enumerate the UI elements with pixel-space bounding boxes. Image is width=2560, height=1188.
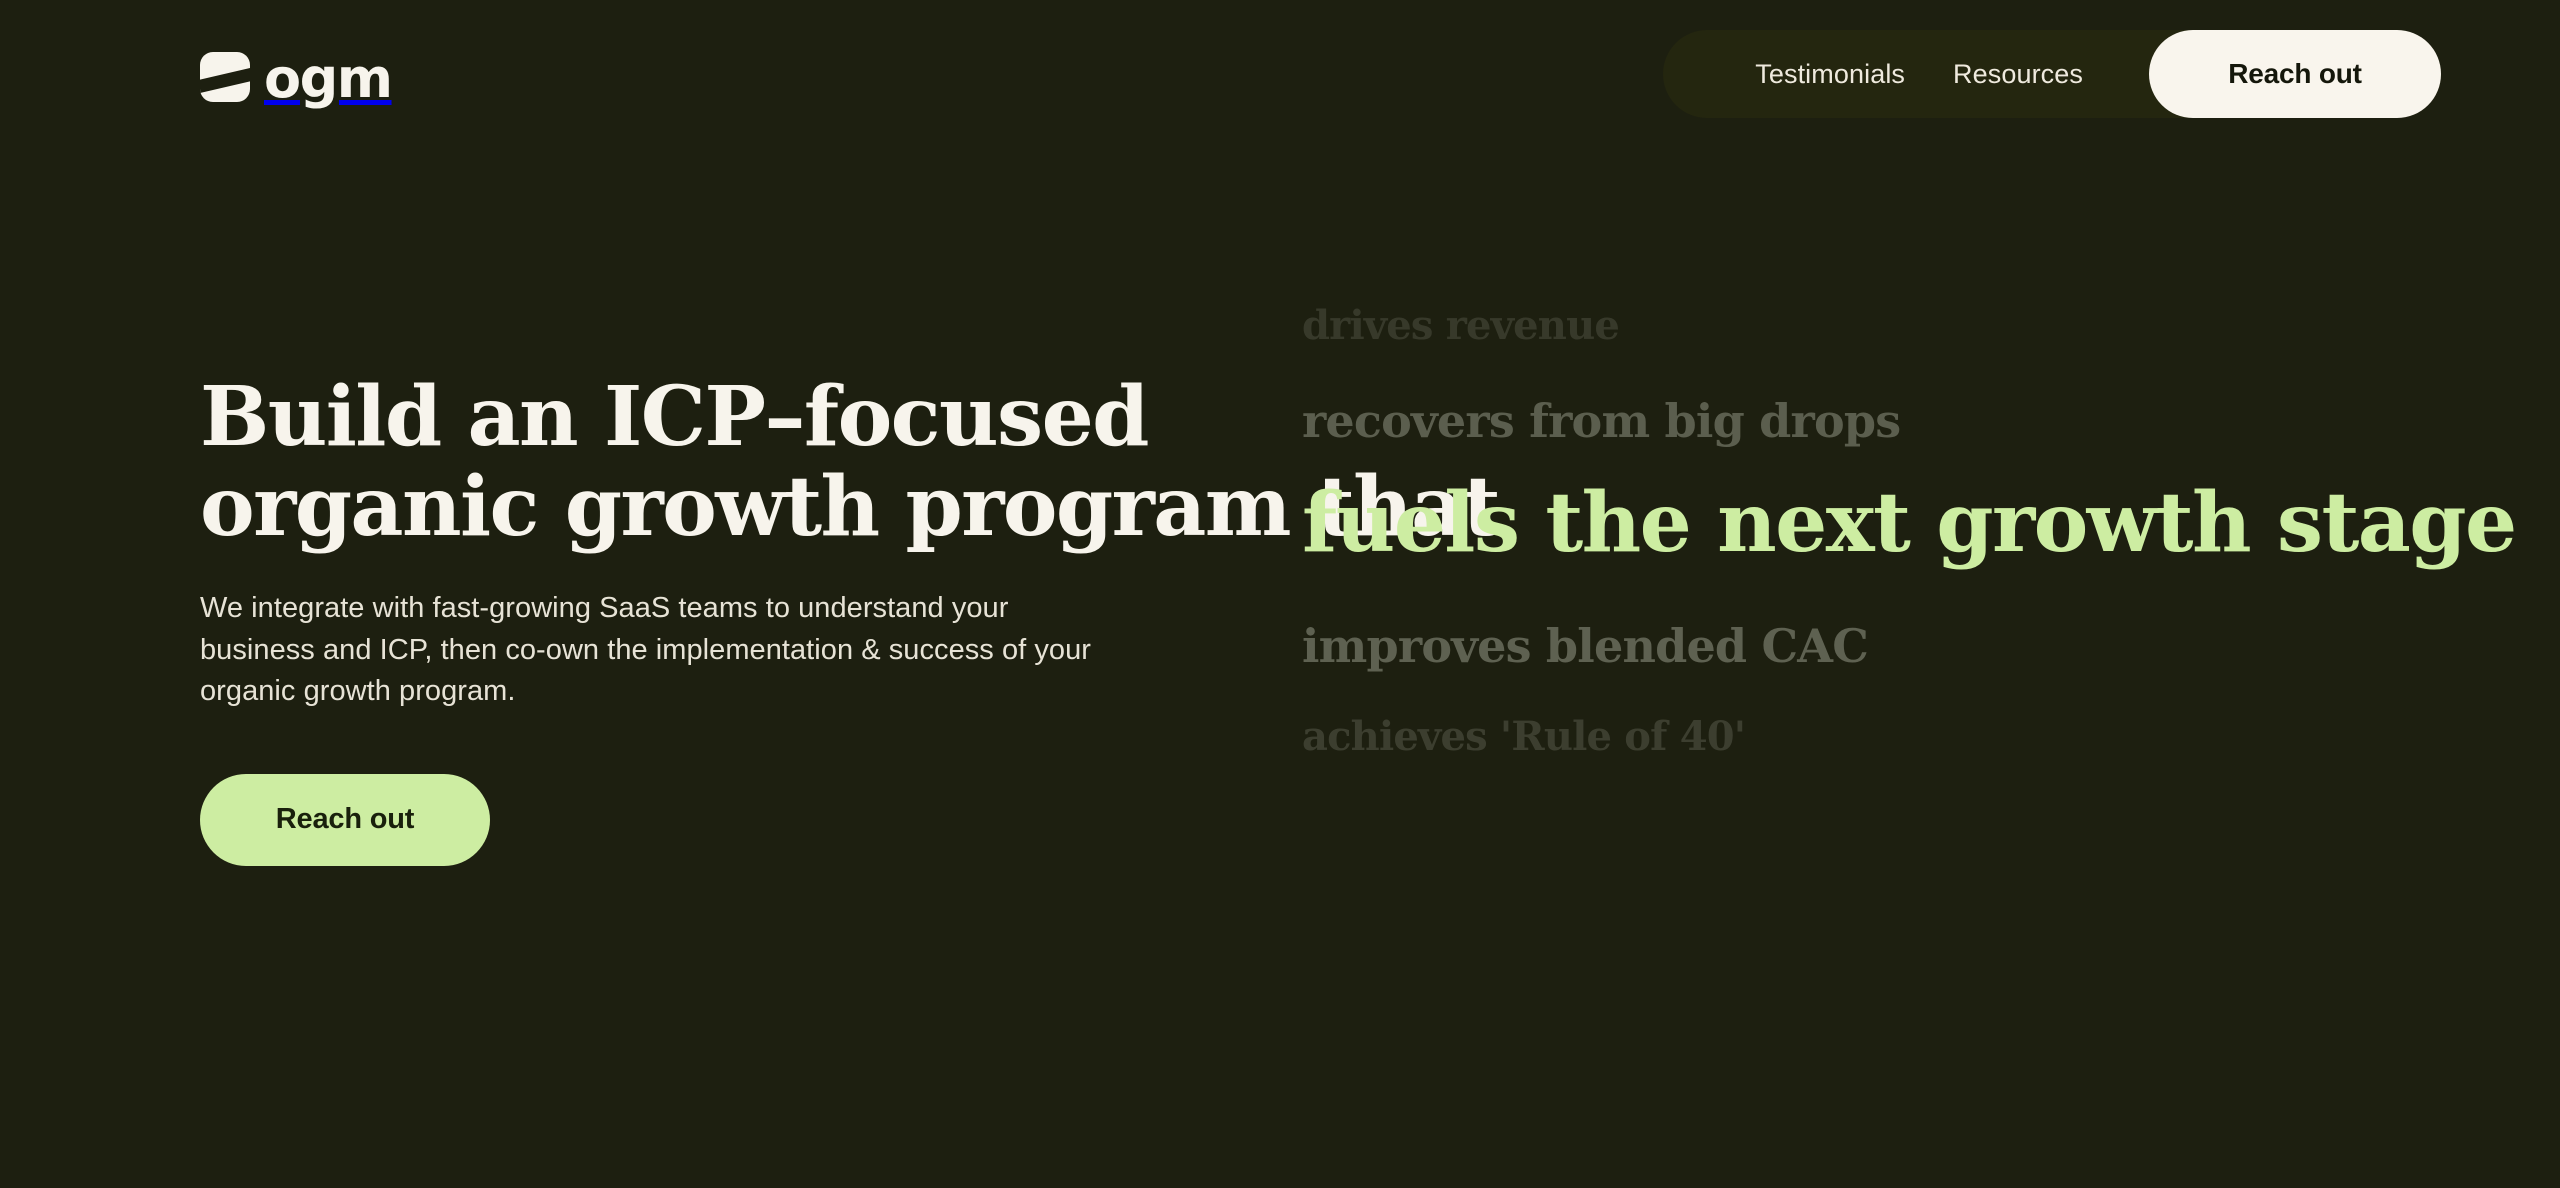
hero-reach-out-button[interactable]: Reach out: [200, 774, 490, 866]
hero-subcopy: We integrate with fast-growing SaaS team…: [200, 588, 1110, 712]
rotator-item-active: fuels the next growth stage: [1302, 482, 2516, 564]
hero-headline-line-2: organic growth program that: [200, 462, 1300, 552]
hero-section: Build an ICP–focused organic growth prog…: [0, 0, 2560, 1188]
hero-headline-line-1: Build an ICP–focused: [200, 369, 1148, 465]
page-root: ogm Testimonials Resources Reach out Bui…: [0, 0, 2560, 1188]
rotator-item-3: improves blended CAC: [1302, 623, 1868, 669]
hero-copy-column: Build an ICP–focused organic growth prog…: [200, 372, 1300, 866]
rotator-item-0: drives revenue: [1302, 306, 1619, 346]
hero-headline: Build an ICP–focused organic growth prog…: [200, 372, 1300, 552]
hero-rotator: drives revenue recovers from big drops f…: [1302, 280, 2512, 810]
rotator-item-1: recovers from big drops: [1302, 398, 1900, 444]
rotator-item-4: achieves 'Rule of 40': [1302, 717, 1745, 757]
